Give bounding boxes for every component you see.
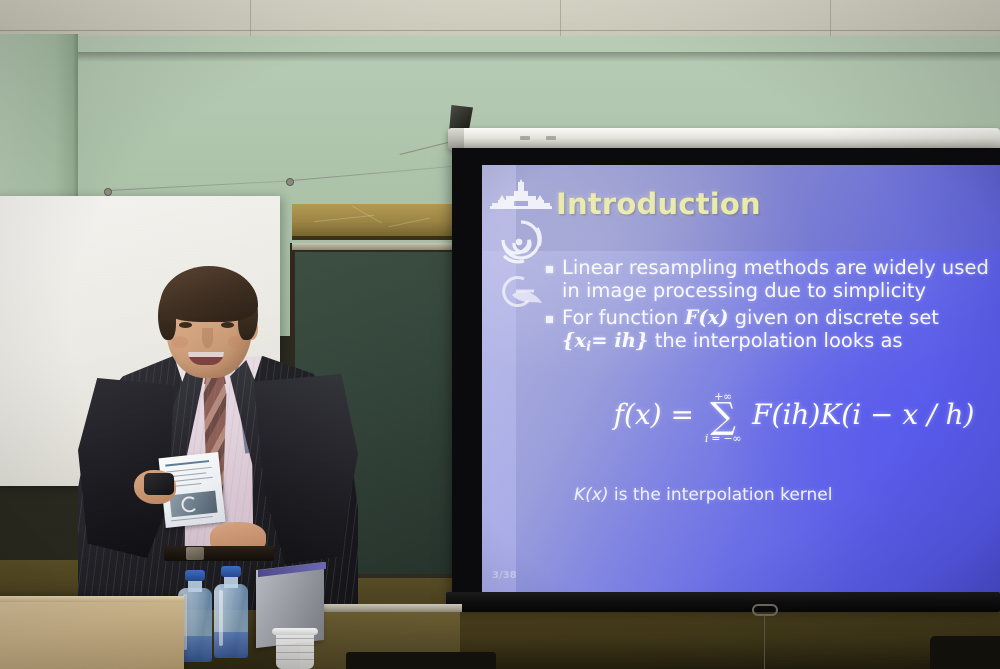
ceiling-shadow: [0, 52, 1000, 62]
eye-right: [221, 322, 234, 328]
bullet-item-2: For function F(x) given on discrete set …: [546, 307, 994, 354]
hair: [160, 266, 258, 322]
nose: [202, 328, 213, 348]
lecture-hall-photo: rosoft ®: [0, 0, 1000, 669]
graphics-lab-logo: [490, 271, 552, 311]
bullet-2-math-open: {x: [562, 329, 586, 352]
bullet-item-1: Linear resampling methods are widely use…: [546, 257, 994, 302]
plastic-cup-rim: [272, 628, 318, 635]
presentation-slide: Introduction Linear resampling methods a…: [482, 165, 1000, 595]
eye-left: [179, 322, 192, 328]
bullet-2-math-fx: F(x): [685, 306, 729, 329]
screen-pull-handle-icon: [752, 604, 778, 616]
formula-rhs: F(ih)K(i − x / h): [752, 398, 974, 431]
water-bottle-2: [214, 566, 248, 658]
chair: [930, 636, 1000, 669]
bullet-square-icon: [546, 316, 553, 323]
chalk-rail: [292, 243, 472, 250]
screen-pull-cord: [764, 615, 765, 669]
interpolation-formula: f(x) = +∞ ∑ i = −∞ F(ih)K(i − x / h): [594, 390, 994, 443]
bottle-cap-icon: [221, 566, 241, 577]
sum-lower-limit: i = −∞: [705, 433, 741, 444]
kernel-note: K(x) is the interpolation kernel: [574, 485, 832, 505]
bullet-2-suffix: the interpolation looks as: [655, 329, 903, 352]
table-foreground-object: [346, 652, 496, 669]
presenter: [78, 270, 358, 610]
banner-grommet: [104, 188, 112, 196]
belt: [164, 546, 274, 561]
screen-bottom-bar: [446, 592, 1000, 612]
summation-operator: +∞ ∑ i = −∞: [705, 391, 741, 444]
sigma-icon: ∑: [705, 402, 741, 433]
screen-housing-cap: [448, 128, 464, 150]
kernel-note-text: is the interpolation kernel: [614, 485, 833, 505]
kernel-symbol: K(x): [574, 485, 608, 505]
wooden-beam: [292, 204, 474, 240]
bullet-2-math-eq: = ih}: [591, 329, 648, 352]
formula-lhs: f(x) =: [614, 398, 694, 431]
slide-number: 3/38: [492, 570, 517, 581]
lectern-top: [0, 596, 184, 602]
belt-buckle: [186, 547, 204, 560]
plastic-cup-stack: [276, 630, 314, 669]
bullet-square-icon: [546, 266, 553, 273]
msu-building-logo: [490, 179, 552, 209]
bullet-1-line-1: Linear resampling methods are widely use…: [562, 256, 989, 279]
slide-bullet-list: Linear resampling methods are widely use…: [546, 257, 994, 360]
slide-title: Introduction: [556, 187, 761, 221]
bullet-1-line-2: in image processing due to simplicity: [562, 279, 926, 302]
cheek-left: [172, 336, 188, 348]
lectern: [0, 596, 184, 669]
banner-grommet: [286, 178, 294, 186]
bullet-2-middle: given on discrete set: [735, 306, 939, 329]
slide-logo-column: [490, 179, 552, 318]
bullet-2-prefix: For function: [562, 306, 678, 329]
spiral-logo: [490, 216, 552, 264]
screen-housing: [448, 128, 1000, 150]
presentation-remote: [144, 473, 174, 495]
bottle-cap-icon: [185, 570, 205, 581]
